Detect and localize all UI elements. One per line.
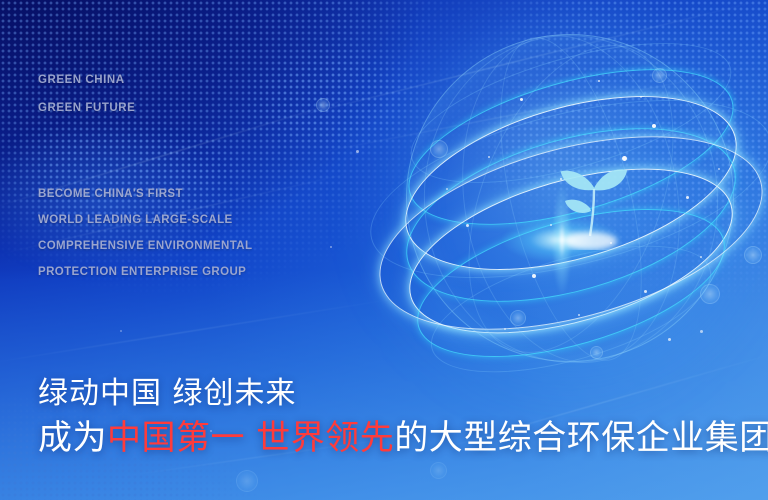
wireframe-globe [400,28,740,368]
bokeh-circle [652,68,667,83]
particle [356,150,359,153]
particle [652,124,656,128]
bokeh-circle [430,140,448,158]
particle [520,98,523,101]
bokeh-circle [590,346,603,359]
particle [550,224,552,226]
headline-prefix: 成为 [38,418,107,458]
subheading-line-2: WORLD LEADING LARGE-SCALE [38,214,233,226]
particle [504,328,506,330]
headline-highlight: 中国第一 世界领先 [107,418,394,458]
particle [668,338,671,341]
headline-line-1: 绿动中国 绿创未来 [38,368,297,412]
bokeh-circle [316,98,330,112]
subheading-line-4: PROTECTION ENTERPRISE GROUP [38,266,246,278]
bokeh-circle [744,246,762,264]
headline-suffix: 的大型综合环保企业集团 [394,418,768,458]
particle [610,242,612,244]
particle [578,314,580,316]
promo-banner: GREEN CHINA GREEN FUTURE BECOME CHINA'S … [0,0,768,500]
subheading-line-3: COMPREHENSIVE ENVIRONMENTAL [38,240,252,252]
particle [640,96,642,98]
subheading-line-1: BECOME CHINA'S FIRST [38,188,183,200]
particle [560,178,562,180]
particle [700,330,703,333]
particle [686,196,689,199]
eyebrow-line-2: GREEN FUTURE [38,102,135,114]
particle [718,168,720,170]
particle [622,156,627,161]
particle [532,274,536,278]
headline-line-2: 成为中国第一 世界领先的大型综合环保企业集团 [38,410,768,459]
particle [120,330,122,332]
particle [446,188,448,190]
particle [330,246,332,248]
bokeh-circle [510,310,526,326]
particle [488,156,490,158]
particle [700,256,702,258]
sprout-seedling-icon [550,146,636,250]
particle [644,290,647,293]
particle [466,224,469,227]
bokeh-circle [236,470,258,492]
particle [598,80,600,82]
eyebrow-line-1: GREEN CHINA [38,74,125,86]
bokeh-circle [700,284,720,304]
bokeh-circle [430,462,447,479]
